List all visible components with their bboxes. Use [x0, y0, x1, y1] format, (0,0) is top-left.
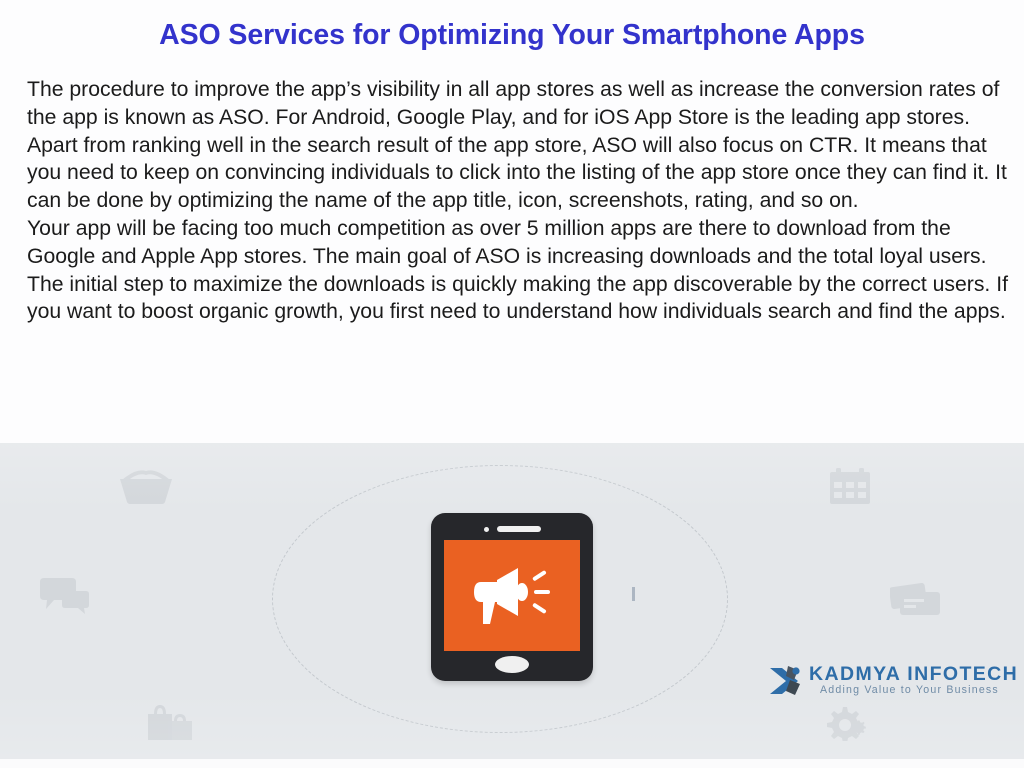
smartphone-device[interactable] — [431, 513, 593, 681]
shopping-bags-watermark-icon — [148, 705, 192, 740]
chat-bubbles-watermark-icon — [38, 578, 90, 614]
body-copy: The procedure to improve the app’s visib… — [27, 76, 1010, 326]
slide-root: ASO Services for Optimizing Your Smartph… — [0, 0, 1024, 768]
megaphone-icon — [474, 562, 552, 630]
illustration-band: @ f G — [0, 443, 1024, 759]
paragraph-1: The procedure to improve the app’s visib… — [27, 76, 1010, 215]
front-camera-icon — [484, 527, 489, 532]
gears-watermark-icon — [825, 705, 871, 741]
earpiece-speaker — [497, 526, 541, 532]
phone-screen — [444, 540, 580, 651]
shopping-basket-watermark-icon — [118, 468, 174, 504]
paragraph-2: Your app will be facing too much competi… — [27, 215, 1010, 326]
logo-company-name: KADMYA INFOTECH — [809, 663, 1018, 686]
home-button[interactable] — [495, 656, 529, 673]
calendar-watermark-icon — [830, 468, 870, 504]
stray-artifact — [632, 587, 635, 601]
page-title: ASO Services for Optimizing Your Smartph… — [0, 19, 1024, 52]
text-content-area: ASO Services for Optimizing Your Smartph… — [0, 0, 1024, 443]
company-logo: KADMYA INFOTECH Adding Value to Your Bus… — [768, 662, 1016, 702]
logo-mark-icon — [768, 664, 814, 698]
band-bottom-strip — [0, 759, 1024, 768]
logo-tagline: Adding Value to Your Business — [820, 684, 999, 696]
credit-cards-watermark-icon — [890, 583, 940, 615]
